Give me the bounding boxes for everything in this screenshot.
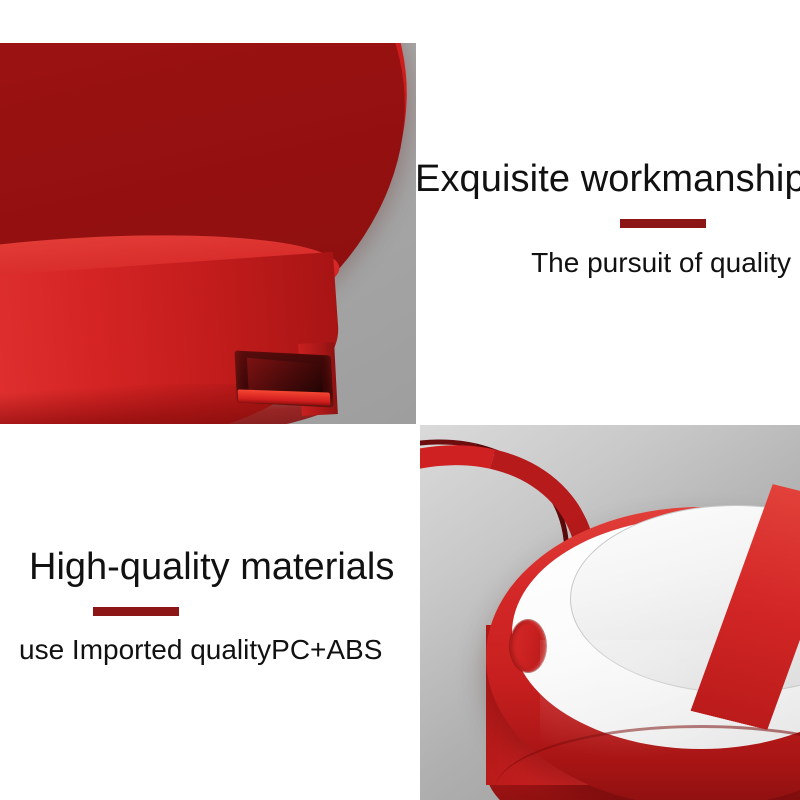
- subline-pursuit-of-quality: The pursuit of quality: [415, 248, 791, 279]
- product-photo-top-left: [0, 43, 416, 424]
- feature-text-bottom-left: High-quality materials use Imported qual…: [0, 548, 420, 666]
- product-feature-collage: Exquisite workmanship The pursuit of qua…: [0, 0, 800, 800]
- accent-bar-bottom-left: [93, 607, 179, 616]
- feature-text-top-right: Exquisite workmanship The pursuit of qua…: [415, 160, 800, 279]
- headline-exquisite-workmanship: Exquisite workmanship: [415, 160, 800, 200]
- accent-bar-top-right: [620, 219, 706, 228]
- product-photo-bottom-right: [420, 425, 800, 800]
- subline-imported-quality-pc-abs: use Imported qualityPC+ABS: [19, 635, 420, 666]
- headline-high-quality-materials: High-quality materials: [29, 548, 420, 588]
- side-button: [510, 620, 546, 672]
